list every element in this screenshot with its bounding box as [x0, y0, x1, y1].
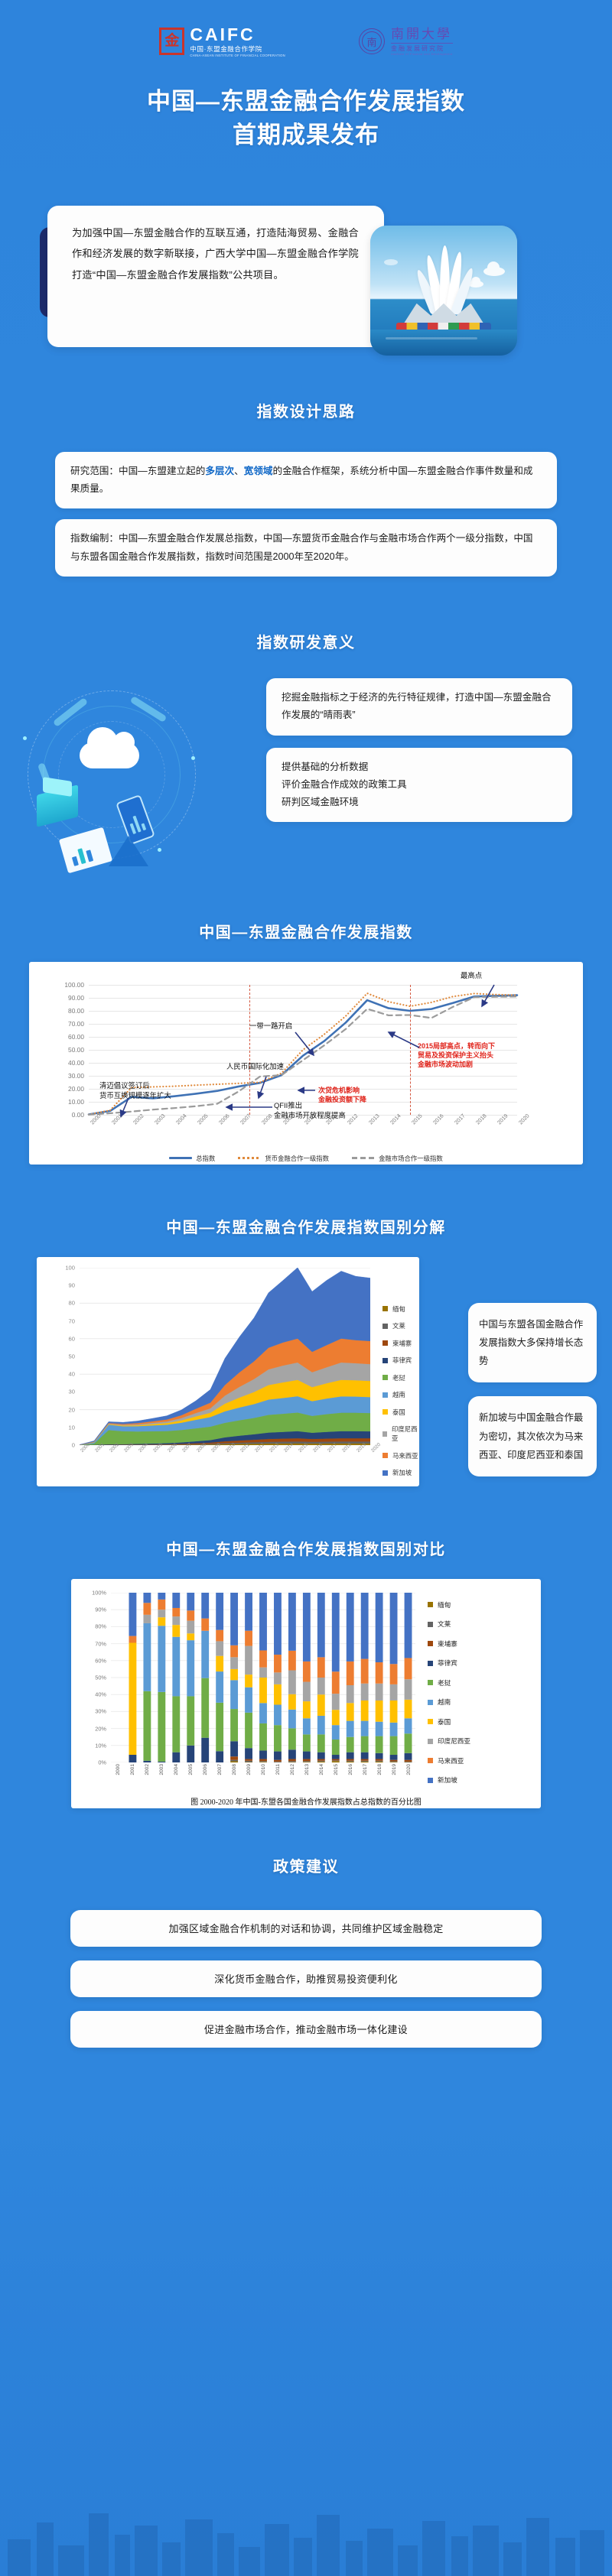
- caifc-seal-icon: 金: [159, 28, 184, 55]
- chart3-bar-segment: [288, 1759, 296, 1761]
- chart2-legend-item: 泰国: [382, 1408, 419, 1417]
- caifc-en-name: CHINA-ASEAN INSTITUTE OF FINANCIAL COOPE…: [190, 54, 285, 57]
- chart3-bar-segment: [361, 1762, 369, 1762]
- chart3-legend-item: 新加坡: [428, 1775, 470, 1785]
- legend-swatch: [382, 1409, 388, 1415]
- legend-swatch: [382, 1324, 388, 1329]
- chart3-bar-segment: [317, 1753, 325, 1759]
- chart3-x-tick: 2006: [203, 1764, 208, 1775]
- chart2-y-tick: 100: [65, 1264, 75, 1271]
- intro-section: 为加强中国—东盟金融合作的互联互通，打造陆海贸易、金融合作和经济发展的数字新联接…: [0, 200, 612, 356]
- water: [370, 330, 517, 356]
- chart3-bar-segment: [274, 1760, 282, 1762]
- chart3-bar-segment: [332, 1694, 340, 1710]
- chart3-bar-segment: [172, 1637, 180, 1697]
- chart3-legend-item: 老挝: [428, 1678, 470, 1688]
- chart3-bar-segment: [187, 1610, 194, 1620]
- chart1-y-tick: 20.00: [68, 1085, 84, 1093]
- chart2-legend-item: 老挝: [382, 1373, 419, 1382]
- chart3-frame: 0%10%20%30%40%50%60%70%80%90%100% 200020…: [71, 1579, 541, 1808]
- policy-list: 加强区域金融合作机制的对话和协调，共同维护区域金融稳定 深化货币金融合作，助推贸…: [70, 1910, 542, 2048]
- chart3-y-tick: 90%: [95, 1606, 106, 1613]
- legend-label: 老挝: [392, 1373, 405, 1382]
- legend-swatch: [428, 1758, 433, 1763]
- chart3-bar-segment: [332, 1740, 340, 1755]
- intro-text: 为加强中国—东盟金融合作的互联互通，打造陆海贸易、金融合作和经济发展的数字新联接…: [72, 223, 364, 285]
- legend-label: 缅甸: [392, 1304, 405, 1314]
- chart3-legend-item: 越南: [428, 1697, 470, 1707]
- chart3-bar-segment: [288, 1761, 296, 1762]
- chart3-y-tick: 20%: [95, 1725, 106, 1732]
- chart3-bar-segment: [405, 1760, 412, 1762]
- chart3-bar-segment: [245, 1675, 252, 1688]
- chart3-bar-segment: [158, 1600, 165, 1610]
- chart3-bar-segment: [187, 1633, 194, 1640]
- legend-label: 新加坡: [438, 1775, 457, 1785]
- chart3-bar-segment: [129, 1593, 137, 1636]
- chart3-bar-segment: [347, 1662, 354, 1685]
- chart3-bar-segment: [158, 1617, 165, 1626]
- chart3-bar-segment: [245, 1759, 252, 1761]
- chart3-bar-segment: [172, 1608, 180, 1616]
- significance-illustration: [14, 683, 259, 865]
- chart1-legend: 总指数货币金融合作一级指数金融市场合作一级指数: [29, 1154, 583, 1163]
- chart1-y-tick: 10.00: [68, 1098, 84, 1106]
- chart3-bar-segment: [288, 1694, 296, 1710]
- skyline-building: [58, 2545, 84, 2576]
- chart3-bar-segment: [390, 1664, 398, 1684]
- chart1-y-tick: 90.00: [68, 994, 84, 1002]
- chart3-x-tick: 2001: [130, 1764, 135, 1775]
- legend-swatch: [428, 1719, 433, 1724]
- chart3-bar-segment: [245, 1593, 252, 1631]
- chart3-bar-segment: [187, 1696, 194, 1745]
- skyline-building: [473, 2526, 499, 2576]
- chart3-bar-segment: [376, 1759, 383, 1760]
- chart3-legend-item: 泰国: [428, 1717, 470, 1727]
- skyline-building: [185, 2519, 213, 2576]
- chart2-legend-item: 越南: [382, 1390, 419, 1399]
- chart2-y-tick: 70: [69, 1317, 75, 1324]
- significance-card-list: 挖掘金融指标之于经济的先行特征规律，打造中国—东盟金融合作发展的“晴雨表” 提供…: [266, 678, 572, 822]
- legend-label: 金融市场合作一级指数: [379, 1154, 443, 1163]
- caifc-logo: 金 CAIFC 中国·东盟金融合作学院 CHINA-ASEAN INSTITUT…: [159, 26, 285, 57]
- page-title-line2: 首期成果发布: [0, 119, 612, 152]
- chart3-bar-segment: [259, 1678, 267, 1703]
- chart3-bar-segment: [216, 1641, 223, 1655]
- chart3-x-tick: 2015: [334, 1764, 339, 1775]
- chart3-bar-segment: [143, 1615, 151, 1623]
- building-base: [404, 304, 483, 323]
- skyline-building: [580, 2530, 604, 2576]
- chart3-x-tick: 2003: [159, 1764, 164, 1775]
- skyline-building: [115, 2535, 130, 2576]
- chart2-note-growth: 中国与东盟各国金融合作发展指数大多保持增长态势: [468, 1303, 597, 1383]
- chart3-bar-segment: [230, 1709, 238, 1741]
- chart3-x-tick: 2014: [319, 1764, 324, 1775]
- chart3-bar-segment: [259, 1761, 267, 1762]
- chart1-annotation-protectionism: 2015局部高点，转而向下 贸易及投资保护主义抬头 金融市场波动加剧: [418, 1041, 495, 1069]
- chart3-bar-segment: [158, 1626, 165, 1692]
- chart3-bar-segment: [274, 1684, 282, 1705]
- chart3-bar-segment: [288, 1670, 296, 1694]
- legend-label: 马来西亚: [392, 1451, 418, 1460]
- design-card-compilation: 指数编制：中国—东盟金融合作发展总指数，中国—东盟货币金融合作与金融市场合作两个…: [55, 519, 557, 577]
- nankai-sub-cn: 金融发展研究院: [391, 45, 453, 52]
- chart3-bar-segment: [405, 1700, 412, 1718]
- chart3-bar-segment: [187, 1593, 194, 1610]
- chart2-frame: 0102030405060708090100 20002001200220032…: [37, 1257, 419, 1486]
- chart3-bar-segment: [347, 1703, 354, 1720]
- skyline-building: [451, 2536, 468, 2576]
- chart3-bar-segment: [361, 1761, 369, 1762]
- skyline-building: [422, 2521, 445, 2576]
- chart3-bar-segment: [347, 1761, 354, 1762]
- chart3-legend-item: 菲律宾: [428, 1658, 470, 1668]
- chart3-bar-segment: [172, 1625, 180, 1637]
- chart3-bar-segment: [143, 1691, 151, 1761]
- chart3-bar-segment: [172, 1593, 180, 1608]
- dot-decoration: [158, 848, 161, 852]
- significance-card-secondary: 提供基础的分析数据 评价金融合作成效的政策工具 研判区域金融环境: [266, 748, 572, 823]
- chart3-bar-segment: [405, 1679, 412, 1700]
- chart3-bar-segment: [216, 1593, 223, 1630]
- legend-swatch: [382, 1306, 388, 1311]
- chart3-x-tick: 2008: [232, 1764, 237, 1775]
- chart3-bar-segment: [303, 1662, 311, 1682]
- chart3-bar-segment: [288, 1710, 296, 1729]
- chart3-plot: [111, 1593, 415, 1762]
- chart3-bar-segment: [187, 1746, 194, 1762]
- chart3-y-tick: 10%: [95, 1742, 106, 1749]
- chart3-bar-segment: [361, 1659, 369, 1684]
- chart3-bar-segment: [390, 1755, 398, 1760]
- nankai-divider: [391, 43, 453, 44]
- nankai-seal-glyph: 南: [366, 34, 376, 49]
- legend-swatch: [428, 1641, 433, 1646]
- infographic-page: 金 CAIFC 中国·东盟金融合作学院 CHINA-ASEAN INSTITUT…: [0, 0, 612, 2576]
- skyline-building: [162, 2542, 181, 2576]
- cloud-icon: [384, 259, 398, 265]
- chart3-bar-segment: [259, 1703, 267, 1723]
- chart1-y-tick: 60.00: [68, 1033, 84, 1041]
- legend-swatch: [238, 1157, 261, 1159]
- chart3-x-tick: 2007: [217, 1764, 223, 1775]
- policy-item: 加强区域金融合作机制的对话和协调，共同维护区域金融稳定: [70, 1910, 542, 1947]
- chart3-bar-segment: [361, 1701, 369, 1721]
- legend-swatch: [382, 1431, 387, 1437]
- chart3-x-tick: 2011: [275, 1764, 281, 1775]
- significance-card-primary: 挖掘金融指标之于经济的先行特征规律，打造中国—东盟金融合作发展的“晴雨表”: [266, 678, 572, 736]
- chart3-x-tick: 2018: [377, 1764, 382, 1775]
- legend-label: 柬埔寨: [438, 1639, 457, 1649]
- policy-section-title: 政策建议: [0, 1854, 612, 1876]
- design-scope-hl2: 宽领域: [244, 466, 273, 476]
- chart3-bar-segment: [303, 1761, 311, 1762]
- chart2-legend-item: 缅甸: [382, 1304, 419, 1314]
- chart3-legend-item: 马来西亚: [428, 1756, 470, 1766]
- chart3-bar-segment: [361, 1721, 369, 1736]
- chart3-bar-segment: [317, 1761, 325, 1762]
- chart3-bar-segment: [303, 1593, 311, 1662]
- chart3-bar-segment: [259, 1650, 267, 1667]
- chart3-x-tick: 2019: [392, 1764, 397, 1775]
- chart3-title: 中国—东盟金融合作发展指数国别对比: [0, 1537, 612, 1559]
- legend-swatch: [382, 1392, 388, 1398]
- caifc-acronym: CAIFC: [190, 26, 285, 44]
- chart2-section: 中国—东盟金融合作发展指数国别分解 0102030405060708090100…: [0, 1215, 612, 1486]
- chart3-bar-segment: [317, 1762, 325, 1762]
- chart3-bar-segment: [347, 1762, 354, 1762]
- chart2-x-tick: 2020: [370, 1442, 382, 1454]
- chart3-legend-item: 柬埔寨: [428, 1639, 470, 1649]
- chart3-bar-segment: [376, 1761, 383, 1762]
- chart2-area-svg: [80, 1268, 370, 1445]
- skyline-building: [367, 2529, 393, 2576]
- chart3-bar-segment: [361, 1753, 369, 1759]
- chart3-bar-segment: [259, 1593, 267, 1650]
- nankai-sub-en: Institute of Finance and Development: [391, 53, 453, 57]
- chart3-bar-segment: [245, 1713, 252, 1748]
- chart3-y-tick: 70%: [95, 1640, 106, 1647]
- chart3-x-tick: 2005: [188, 1764, 194, 1775]
- legend-swatch: [382, 1340, 388, 1346]
- chart2-y-tick: 90: [69, 1282, 75, 1289]
- chart3-x-tick: 2013: [304, 1764, 310, 1775]
- chart3-bar-segment: [303, 1762, 311, 1762]
- legend-label: 新加坡: [392, 1468, 412, 1477]
- page-title-line1: 中国—东盟金融合作发展指数: [0, 85, 612, 119]
- chart2-plot: [80, 1268, 370, 1445]
- chart3-x-tick: 2010: [261, 1764, 266, 1775]
- chart3-bar-segment: [230, 1760, 238, 1762]
- chart3-bar-segment: [303, 1701, 311, 1718]
- legend-swatch: [428, 1622, 433, 1627]
- chart3-bar-segment: [347, 1753, 354, 1759]
- chart3-bar-segment: [274, 1655, 282, 1672]
- chart1-y-tick: 80.00: [68, 1007, 84, 1015]
- legend-label: 老挝: [438, 1678, 451, 1688]
- chart3-bar-segment: [143, 1623, 151, 1691]
- chart3-bar-segment: [201, 1593, 209, 1619]
- chart3-bar-segment: [405, 1718, 412, 1733]
- skyline-building: [8, 2539, 31, 2576]
- logo-row: 金 CAIFC 中国·东盟金融合作学院 CHINA-ASEAN INSTITUT…: [0, 0, 612, 57]
- chart3-bar-segment: [259, 1759, 267, 1761]
- skyline-building: [217, 2533, 234, 2576]
- chart2-title: 中国—东盟金融合作发展指数国别分解: [0, 1215, 612, 1237]
- skyline-building: [294, 2538, 312, 2576]
- chart3-bar-segment: [274, 1593, 282, 1655]
- chart3-bar-segment: [405, 1658, 412, 1679]
- chart3-x-axis: 2000200120022003200420052006200720082009…: [111, 1764, 415, 1792]
- chart2-y-tick: 10: [69, 1424, 75, 1431]
- chart3-bar-segment: [376, 1684, 383, 1701]
- legend-swatch: [428, 1661, 433, 1666]
- dot-decoration: [191, 756, 195, 760]
- chart3-bar-segment: [158, 1593, 165, 1600]
- chart3-bar-segment: [230, 1593, 238, 1645]
- legend-label: 印度尼西亚: [392, 1424, 419, 1443]
- design-scope-pre: 研究范围：中国—东盟建立起的: [70, 466, 205, 476]
- chart3-bar-segment: [317, 1759, 325, 1760]
- chart3-bar-segment: [376, 1762, 383, 1762]
- chart3-bar-segment: [317, 1657, 325, 1678]
- chart3-bar-segment: [172, 1616, 180, 1625]
- chart3-bar-segment: [143, 1761, 151, 1762]
- chart3-bar-segment: [158, 1762, 165, 1762]
- significance-section-title: 指数研发意义: [0, 630, 612, 652]
- chart3-bar-segment: [201, 1619, 209, 1631]
- chart3-bar-segment: [317, 1734, 325, 1752]
- chart2-legend-item: 印度尼西亚: [382, 1424, 419, 1443]
- chart3-x-tick: 2004: [174, 1764, 179, 1775]
- cloud-icon: [483, 267, 505, 276]
- chart2-side-notes: 中国与东盟各国金融合作发展指数大多保持增长态势 新加坡与中国金融合作最为密切，其…: [468, 1303, 597, 1476]
- chart3-bar-segment: [259, 1762, 267, 1762]
- chart3-bar-segment: [245, 1631, 252, 1646]
- policy-item: 深化货币金融合作，助推贸易投资便利化: [70, 1960, 542, 1997]
- chart3-bar-segment: [390, 1593, 398, 1664]
- chart3-bar-segment: [361, 1736, 369, 1753]
- chart3-legend-item: 文莱: [428, 1619, 470, 1629]
- chart3-bar-segment: [390, 1760, 398, 1762]
- chart3-bar-segment: [332, 1593, 340, 1671]
- chart2-y-tick: 60: [69, 1335, 75, 1342]
- chart3-x-tick: 2009: [246, 1764, 252, 1775]
- chart3-bar-segment: [216, 1630, 223, 1642]
- skyline-building: [37, 2522, 54, 2576]
- chart3-legend-item: 缅甸: [428, 1600, 470, 1610]
- legend-label: 文莱: [392, 1321, 405, 1330]
- chart3-bar-segment: [259, 1668, 267, 1678]
- skyline-building: [317, 2515, 340, 2576]
- chart1-y-tick: 0.00: [72, 1111, 84, 1119]
- chart3-bar-segment: [143, 1603, 151, 1615]
- chart3-bar-segment: [347, 1721, 354, 1737]
- chart3-bar-segment: [129, 1755, 137, 1762]
- chart3-x-tick: 2002: [145, 1764, 150, 1775]
- legend-swatch: [428, 1680, 433, 1685]
- nankai-logo: 南 南開大學 金融发展研究院 Institute of Finance and …: [359, 27, 453, 57]
- legend-swatch: [382, 1375, 388, 1380]
- design-section-title: 指数设计思路: [0, 399, 612, 421]
- chart3-bar-segment: [201, 1738, 209, 1762]
- legend-swatch: [428, 1739, 433, 1744]
- chart1-annotation-subprime: 次贷危机影响 金融投资额下降: [318, 1086, 366, 1104]
- chart3-bar-segment: [158, 1692, 165, 1762]
- chart1-legend-item: 货币金融合作一级指数: [238, 1154, 329, 1163]
- chart1-y-axis: 0.0010.0020.0030.0040.0050.0060.0070.008…: [37, 980, 84, 1119]
- footer-skyline: [0, 2507, 612, 2576]
- design-scope-mid: 、: [234, 466, 244, 476]
- chart3-bar-segment: [376, 1736, 383, 1753]
- chart3-bar-segment: [332, 1759, 340, 1760]
- page-title: 中国—东盟金融合作发展指数 首期成果发布: [0, 85, 612, 152]
- chart3-x-tick: 2000: [116, 1764, 121, 1775]
- legend-label: 越南: [392, 1390, 405, 1399]
- chart3-y-tick: 40%: [95, 1691, 106, 1698]
- chart3-bar-segment: [347, 1737, 354, 1753]
- chart2-y-tick: 20: [69, 1406, 75, 1413]
- chart3-bar-segment: [187, 1621, 194, 1634]
- legend-label: 总指数: [196, 1154, 215, 1163]
- chart3-bar-segment: [274, 1762, 282, 1762]
- chart3-bar-segment: [129, 1636, 137, 1643]
- nankai-seal-icon: 南: [359, 28, 385, 54]
- chart3-bar-segment: [361, 1593, 369, 1659]
- legend-label: 泰国: [392, 1408, 405, 1417]
- chart3-bar-segment: [303, 1734, 311, 1751]
- chart1-annotation-chiang-mai: 清迈倡议签订后 货币互换规模逐年扩大: [99, 1081, 171, 1100]
- design-scope-hl1: 多层次: [205, 466, 234, 476]
- legend-label: 缅甸: [438, 1600, 451, 1610]
- chart3-bars-svg: [111, 1593, 415, 1762]
- legend-swatch: [428, 1602, 433, 1607]
- chart2-y-tick: 40: [69, 1371, 75, 1378]
- skyline-building: [503, 2542, 522, 2576]
- chart3-bar-segment: [332, 1760, 340, 1761]
- chart3-y-tick: 30%: [95, 1708, 106, 1715]
- chart3-bar-segment: [201, 1678, 209, 1738]
- chart1-annotation-rmb: 人民币国际化加速: [226, 1062, 284, 1072]
- chart3-bar-segment: [230, 1657, 238, 1669]
- significance-point: 提供基础的分析数据: [282, 759, 557, 776]
- chart3-bar-segment: [347, 1685, 354, 1703]
- legend-label: 菲律宾: [392, 1356, 412, 1365]
- chart3-bar-segment: [347, 1593, 354, 1662]
- chart3-bar-segment: [216, 1751, 223, 1762]
- legend-swatch: [382, 1470, 388, 1476]
- significance-section: 指数研发意义 挖掘金融指标之于经济的先行特征规律，打造中国—东盟金融合作发展的“: [0, 630, 612, 869]
- chart3-bar-segment: [376, 1722, 383, 1736]
- chart2-legend-item: 柬埔寨: [382, 1339, 419, 1348]
- legend-label: 印度尼西亚: [438, 1736, 470, 1746]
- chart1-frame: 0.0010.0020.0030.0040.0050.0060.0070.008…: [29, 962, 583, 1165]
- chart1-annotation-peak: 最高点: [461, 971, 482, 981]
- chart3-bar-segment: [405, 1753, 412, 1760]
- chart3-section: 中国—东盟金融合作发展指数国别对比 0%10%20%30%40%50%60%70…: [0, 1537, 612, 1808]
- chart3-bar-segment: [245, 1761, 252, 1762]
- chart3-bar-segment: [288, 1651, 296, 1671]
- chart3-bar-segment: [230, 1756, 238, 1759]
- chart3-bar-segment: [332, 1761, 340, 1762]
- chart3-bar-segment: [259, 1750, 267, 1759]
- chart3-bar-segment: [317, 1694, 325, 1716]
- chart2-legend-item: 马来西亚: [382, 1451, 419, 1460]
- chart3-y-tick: 60%: [95, 1657, 106, 1664]
- chart3-bar-segment: [376, 1701, 383, 1722]
- chart1-section: 中国—东盟金融合作发展指数 0.0010.0020.0030.0040.0050…: [0, 920, 612, 1165]
- chart3-bar-segment: [230, 1680, 238, 1709]
- chart3-bar-segment: [230, 1669, 238, 1680]
- chart3-bar-segment: [187, 1640, 194, 1696]
- chart1-y-tick: 100.00: [64, 981, 84, 989]
- intro-photo: [370, 226, 517, 356]
- chart3-bar-segment: [332, 1725, 340, 1740]
- chart3-bar-segment: [172, 1696, 180, 1752]
- design-section: 指数设计思路 研究范围：中国—东盟建立起的多层次、宽领域的金融合作框架，系统分析…: [0, 399, 612, 577]
- nankai-name: 南開大學: [391, 27, 453, 42]
- chart3-y-axis: 0%10%20%30%40%50%60%70%80%90%100%: [76, 1590, 106, 1766]
- chart2-y-tick: 80: [69, 1300, 75, 1307]
- caifc-cn-name: 中国·东盟金融合作学院: [190, 46, 285, 53]
- chart3-bar-segment: [303, 1751, 311, 1759]
- design-card-list: 研究范围：中国—东盟建立起的多层次、宽领域的金融合作框架，系统分析中国—东盟金融…: [55, 452, 557, 577]
- legend-label: 菲律宾: [438, 1658, 457, 1668]
- caifc-seal-glyph: 金: [164, 34, 179, 48]
- legend-label: 马来西亚: [438, 1756, 464, 1766]
